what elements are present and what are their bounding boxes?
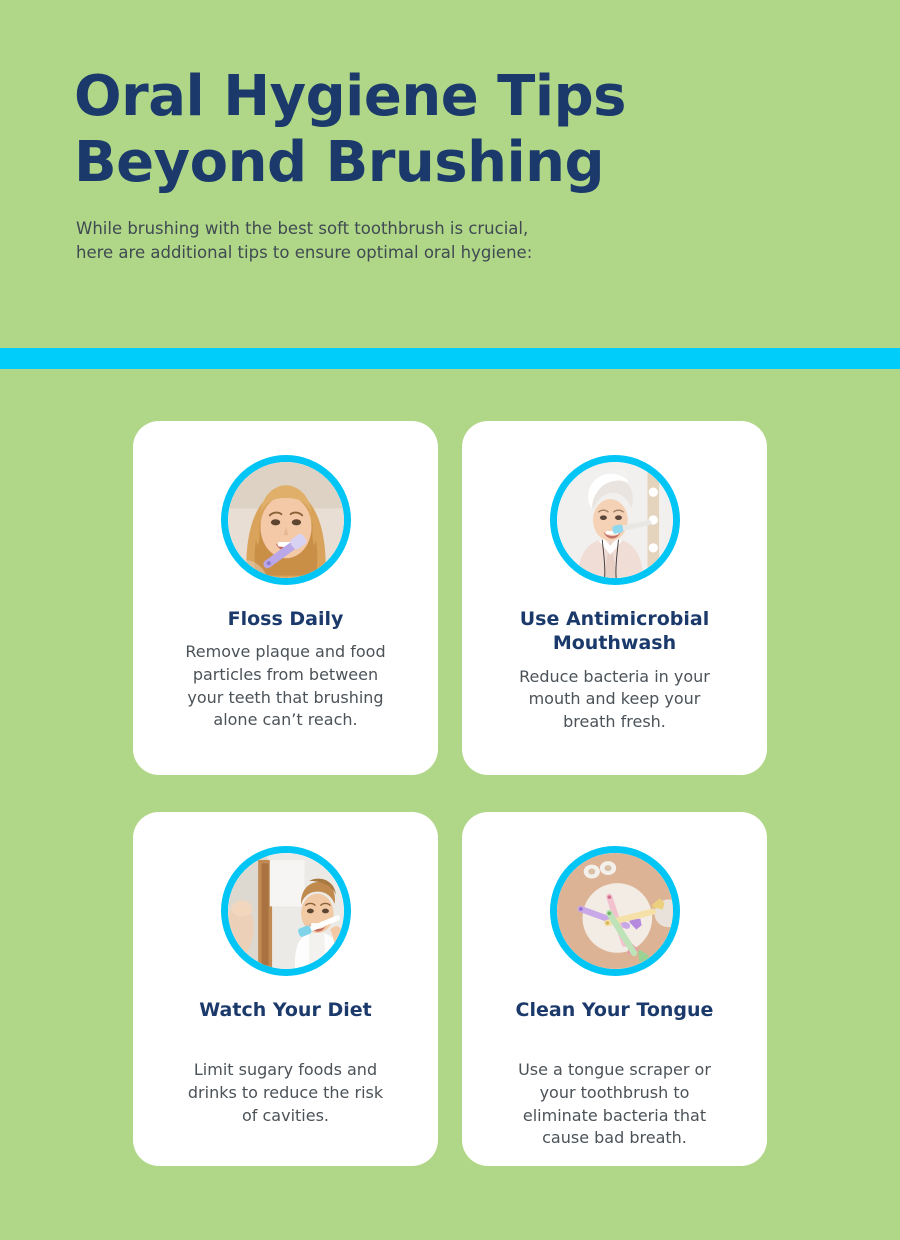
card-body-line-3: breath fresh.: [519, 711, 710, 734]
page-subtitle-line-2: here are additional tips to ensure optim…: [76, 241, 830, 265]
card-title-line-1: Watch Your Diet: [199, 999, 371, 1021]
photo-frame: [557, 853, 673, 969]
card-body-line-2: mouth and keep your: [519, 688, 710, 711]
card-body-line-2: particles from between: [185, 664, 385, 687]
cyan-divider-bar: [0, 348, 900, 369]
card-title: Watch Your Diet: [199, 998, 371, 1022]
card-body-line-2: your toothbrush to: [518, 1082, 711, 1105]
card-body-line-4: cause bad breath.: [518, 1127, 711, 1150]
card-body: Use a tongue scraper or your toothbrush …: [518, 1059, 711, 1150]
photo-pastel-tongue-scrapers-on-plate: [550, 846, 680, 976]
tip-card-use-antimicrobial-mouthwash[interactable]: Use Antimicrobial Mouthwash Reduce bacte…: [462, 421, 767, 775]
card-title-line-2: Mouthwash: [553, 632, 676, 654]
card-title-line-1: Use Antimicrobial: [520, 608, 710, 630]
photo-illustration-woman-brushing: [228, 462, 344, 578]
photo-woman-brushing-teeth: [221, 455, 351, 585]
photo-frame: [557, 462, 673, 578]
photo-frame: [228, 853, 344, 969]
card-body-line-3: eliminate bacteria that: [518, 1105, 711, 1128]
card-body-line-1: Remove plaque and food: [185, 641, 385, 664]
card-body: Limit sugary foods and drinks to reduce …: [188, 1059, 383, 1127]
tip-card-floss-daily[interactable]: Floss Daily Remove plaque and food parti…: [133, 421, 438, 775]
tip-card-watch-your-diet[interactable]: Watch Your Diet Limit sugary foods and d…: [133, 812, 438, 1166]
photo-woman-towel-turban-toothbrush: [550, 455, 680, 585]
card-body-line-1: Use a tongue scraper or: [518, 1059, 711, 1082]
card-body: Reduce bacteria in your mouth and keep y…: [519, 666, 710, 734]
card-body-line-2: drinks to reduce the risk: [188, 1082, 383, 1105]
card-title-line-1: Clean Your Tongue: [516, 999, 714, 1021]
card-body-line-1: Reduce bacteria in your: [519, 666, 710, 689]
photo-illustration-tongue-scrapers: [557, 853, 673, 969]
page-title-line-2: Beyond Brushing: [74, 130, 674, 196]
tip-card-clean-your-tongue[interactable]: Clean Your Tongue Use a tongue scraper o…: [462, 812, 767, 1166]
page-title: Oral Hygiene Tips Beyond Brushing: [74, 64, 674, 195]
page-title-line-1: Oral Hygiene Tips: [74, 64, 674, 130]
card-title-line-1: Floss Daily: [228, 608, 344, 630]
photo-frame: [228, 462, 344, 578]
page-subtitle-line-1: While brushing with the best soft toothb…: [76, 217, 830, 241]
photo-illustration-woman-towel: [557, 462, 673, 578]
card-title: Clean Your Tongue: [516, 998, 714, 1022]
card-body-line-3: your teeth that brushing: [185, 687, 385, 710]
card-title: Use Antimicrobial Mouthwash: [520, 607, 710, 656]
card-body-line-4: alone can’t reach.: [185, 709, 385, 732]
card-body: Remove plaque and food particles from be…: [185, 641, 385, 732]
photo-man-brushing-teeth-mirror: [221, 846, 351, 976]
photo-illustration-man-brushing: [228, 853, 344, 969]
page-subtitle: While brushing with the best soft toothb…: [76, 217, 830, 265]
tips-card-grid: Floss Daily Remove plaque and food parti…: [133, 421, 767, 1166]
header: Oral Hygiene Tips Beyond Brushing While …: [0, 0, 900, 265]
card-body-line-3: of cavities.: [188, 1105, 383, 1128]
card-body-line-1: Limit sugary foods and: [188, 1059, 383, 1082]
card-title: Floss Daily: [228, 607, 344, 631]
